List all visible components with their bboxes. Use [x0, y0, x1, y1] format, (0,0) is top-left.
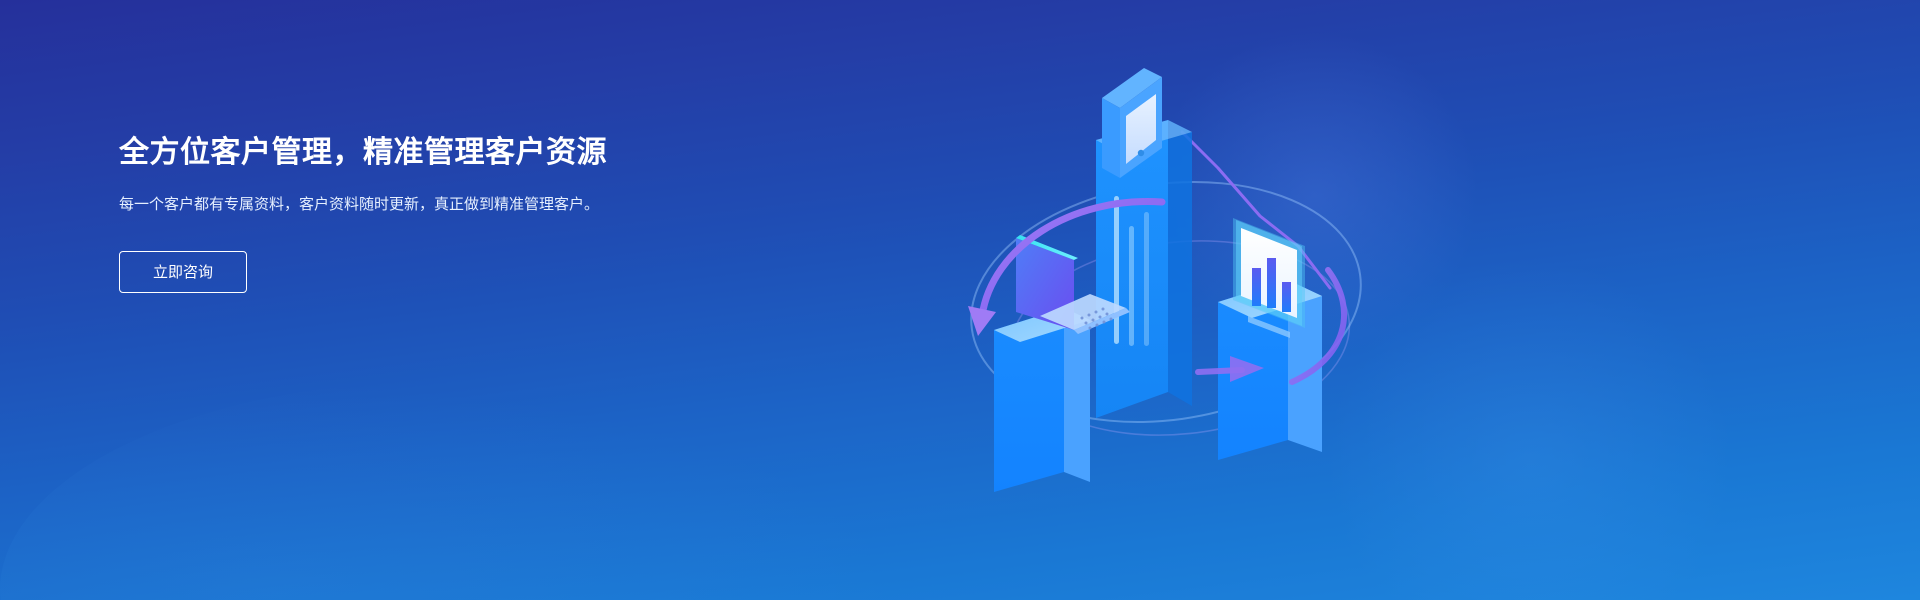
- page-title: 全方位客户管理，精准管理客户资源: [119, 132, 759, 174]
- background-glow-bottom: [0, 380, 900, 600]
- consult-now-button[interactable]: 立即咨询: [119, 251, 247, 293]
- hero-copy-block: 全方位客户管理，精准管理客户资源 每一个客户都有专属资料，客户资料随时更新，真正…: [119, 132, 759, 293]
- left-pedestal: [994, 308, 1090, 492]
- hero-banner: 全方位客户管理，精准管理客户资源 每一个客户都有专属资料，客户资料随时更新，真正…: [0, 0, 1920, 600]
- hero-illustration: [930, 20, 1410, 580]
- hero-subtitle: 每一个客户都有专属资料，客户资料随时更新，真正做到精准管理客户。: [119, 192, 599, 217]
